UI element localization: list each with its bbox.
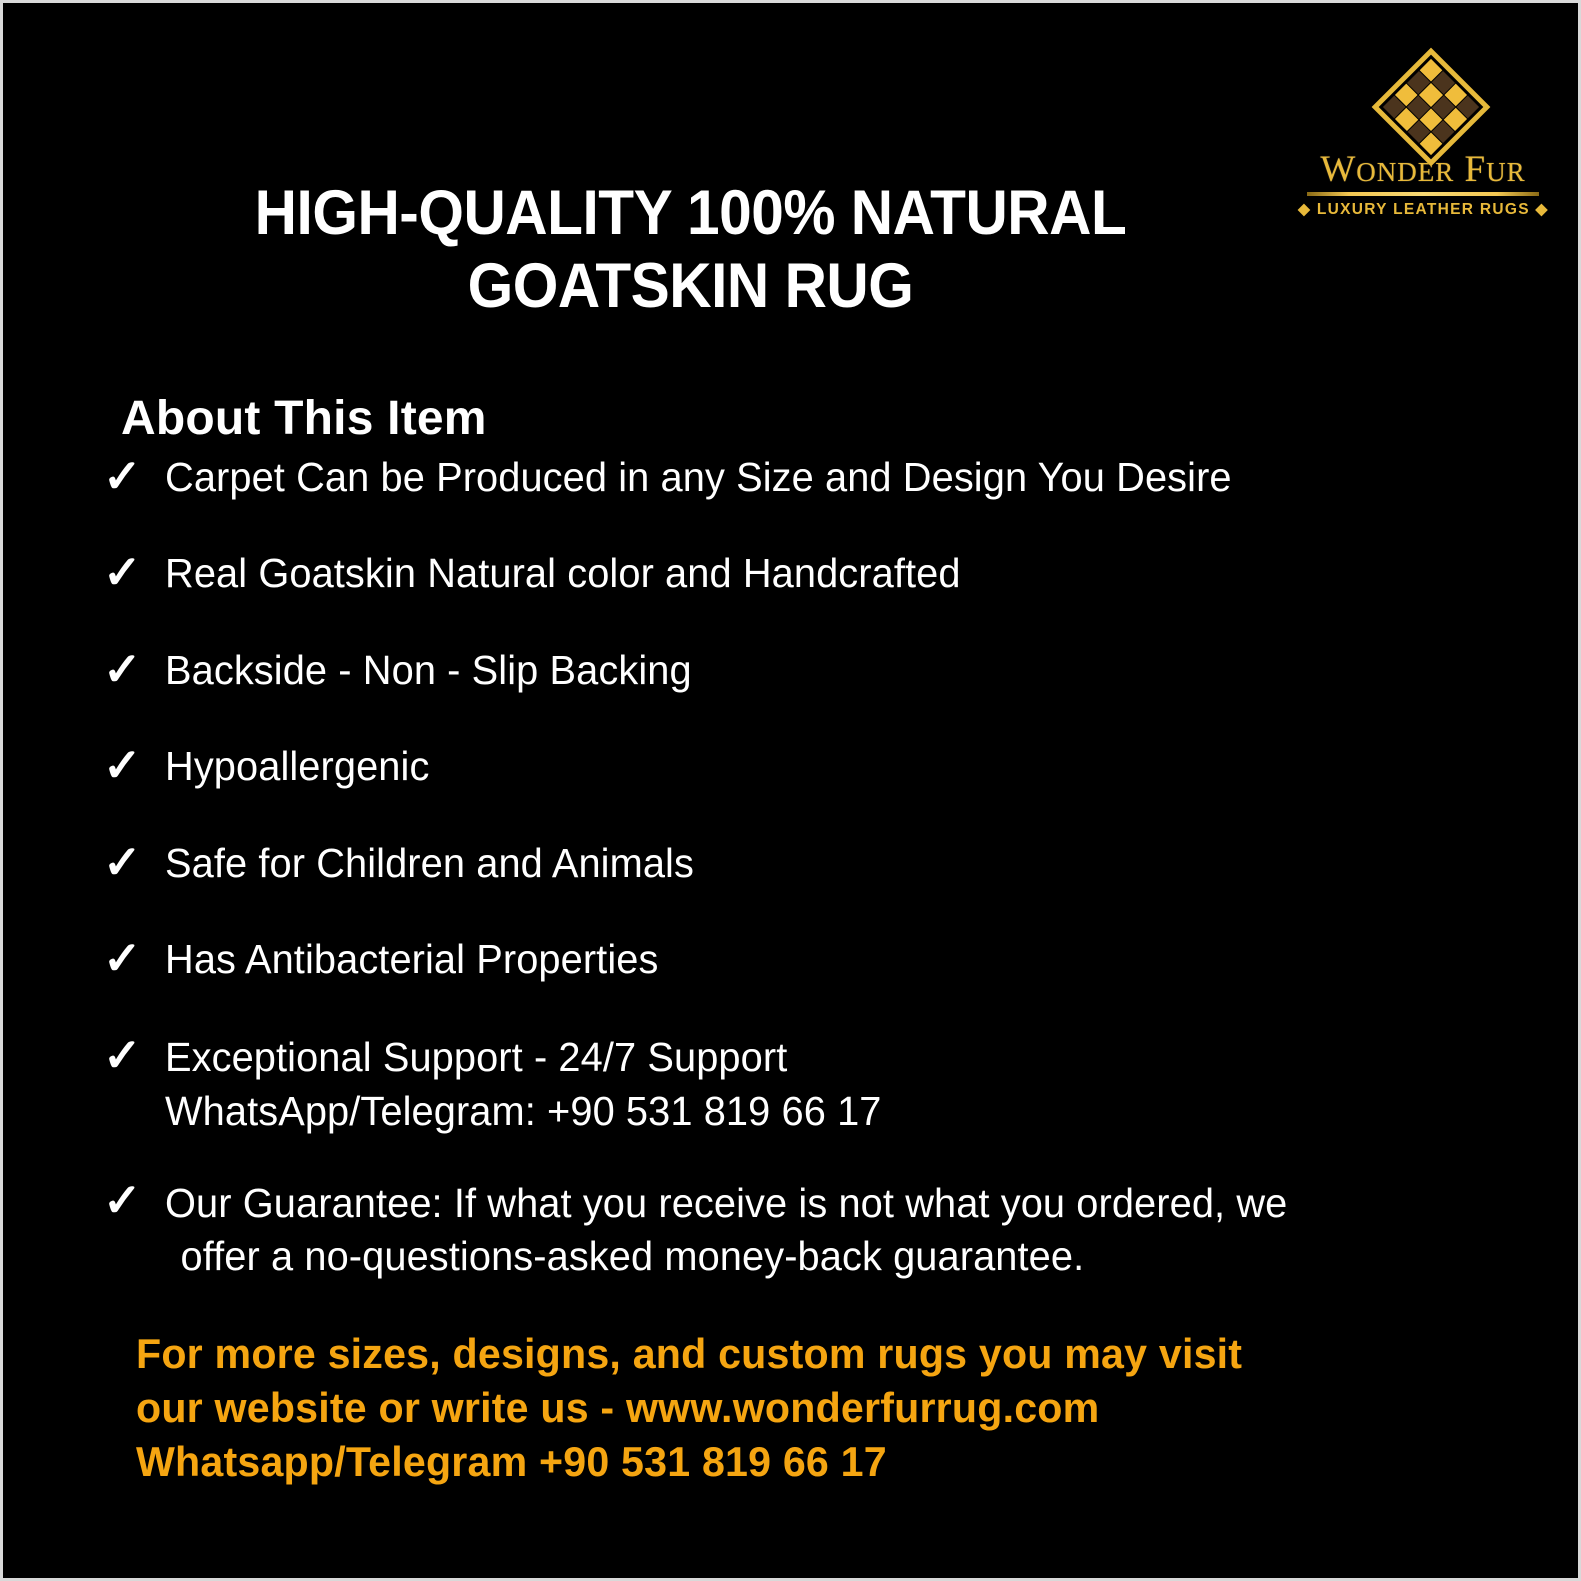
check-icon: ✓ bbox=[103, 742, 165, 788]
check-icon: ✓ bbox=[103, 839, 165, 885]
footer-line-2: our website or write us - www.wonderfurr… bbox=[136, 1381, 1430, 1435]
guarantee-line-2: offer a no-questions-asked money-back gu… bbox=[165, 1230, 1084, 1283]
list-item-label-guarantee: Our Guarantee: If what you receive is no… bbox=[165, 1177, 1463, 1284]
list-item-label-support: Exceptional Support - 24/7 SupportWhatsA… bbox=[165, 1030, 1463, 1139]
brand-logo: WONDER FUR ◆ LUXURY LEATHER RUGS ◆ bbox=[1298, 51, 1548, 226]
list-item: ✓ Backside - Non - Slip Backing bbox=[103, 644, 1503, 696]
check-icon: ✓ bbox=[103, 549, 165, 595]
guarantee-line-1: Our Guarantee: If what you receive is no… bbox=[165, 1180, 1287, 1226]
list-item-guarantee: ✓ Our Guarantee: If what you receive is … bbox=[103, 1177, 1503, 1284]
list-item: ✓ Has Antibacterial Properties bbox=[103, 933, 1503, 985]
logo-divider bbox=[1307, 192, 1539, 196]
check-icon: ✓ bbox=[103, 453, 165, 499]
page-title: HIGH-QUALITY 100% NATURAL GOATSKIN RUG bbox=[163, 177, 1219, 323]
list-item: ✓ Hypoallergenic bbox=[103, 740, 1503, 792]
check-icon: ✓ bbox=[103, 646, 165, 692]
check-icon: ✓ bbox=[103, 1032, 165, 1078]
check-icon: ✓ bbox=[103, 935, 165, 981]
footer-line-3: Whatsapp/Telegram +90 531 819 66 17 bbox=[136, 1435, 1430, 1489]
list-item-label: Backside - Non - Slip Backing bbox=[165, 644, 1463, 696]
wordmark-f: F bbox=[1465, 149, 1487, 190]
list-item: ✓ Real Goatskin Natural color and Handcr… bbox=[103, 547, 1503, 599]
logo-tagline: ◆ LUXURY LEATHER RUGS ◆ bbox=[1298, 200, 1548, 219]
wordmark-ur: UR bbox=[1486, 157, 1526, 187]
wordmark-onder: ONDER bbox=[1356, 157, 1454, 187]
list-item-label: Hypoallergenic bbox=[165, 740, 1463, 792]
list-item-label: Carpet Can be Produced in any Size and D… bbox=[165, 451, 1463, 503]
support-line-1: Exceptional Support - 24/7 Support bbox=[165, 1034, 787, 1080]
support-line-2: WhatsApp/Telegram: +90 531 819 66 17 bbox=[165, 1088, 882, 1134]
logo-diamond-wrap bbox=[1375, 51, 1471, 147]
list-item-label: Real Goatskin Natural color and Handcraf… bbox=[165, 547, 1463, 599]
check-icon: ✓ bbox=[103, 1177, 165, 1223]
feature-list: ✓ Carpet Can be Produced in any Size and… bbox=[103, 451, 1503, 1283]
list-item-label: Has Antibacterial Properties bbox=[165, 933, 1463, 985]
wordmark-w: W bbox=[1320, 149, 1356, 190]
list-item-support: ✓ Exceptional Support - 24/7 SupportWhat… bbox=[103, 1030, 1503, 1139]
product-info-poster: WONDER FUR ◆ LUXURY LEATHER RUGS ◆ HIGH-… bbox=[0, 0, 1581, 1581]
list-item-label: Safe for Children and Animals bbox=[165, 837, 1463, 889]
footer-line-1: For more sizes, designs, and custom rugs… bbox=[136, 1327, 1430, 1381]
list-item: ✓ Safe for Children and Animals bbox=[103, 837, 1503, 889]
contact-footer: For more sizes, designs, and custom rugs… bbox=[136, 1327, 1430, 1488]
about-this-item-heading: About This Item bbox=[121, 391, 487, 446]
list-item: ✓ Carpet Can be Produced in any Size and… bbox=[103, 451, 1503, 503]
